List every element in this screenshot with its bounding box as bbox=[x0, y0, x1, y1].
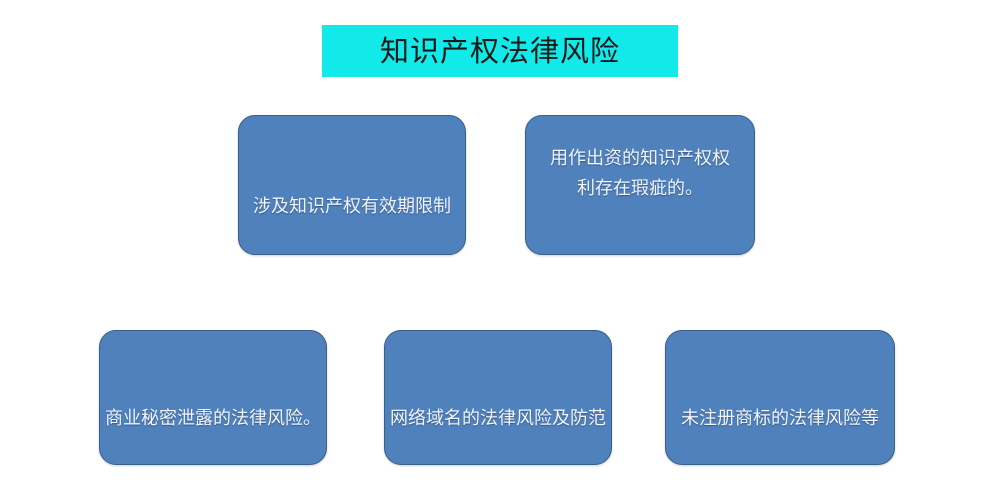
node-label-holder: 未注册商标的法律风险等 bbox=[666, 404, 894, 434]
node-label-1: 涉及知识产权有效期限制 bbox=[253, 192, 451, 222]
node-label-5: 未注册商标的法律风险等 bbox=[681, 404, 879, 434]
node-box-1[interactable]: 涉及知识产权有效期限制 bbox=[238, 115, 466, 255]
node-box-5[interactable]: 未注册商标的法律风险等 bbox=[665, 330, 895, 465]
node-box-2[interactable]: 用作出资的知识产权权利存在瑕疵的。 bbox=[525, 115, 755, 255]
slide-title-banner: 知识产权法律风险 bbox=[322, 25, 678, 77]
node-label-holder: 涉及知识产权有效期限制 bbox=[239, 192, 465, 222]
node-label-4: 网络域名的法律风险及防范 bbox=[390, 404, 606, 434]
node-label-holder: 网络域名的法律风险及防范 bbox=[385, 404, 611, 434]
slide-canvas: 知识产权法律风险 涉及知识产权有效期限制 用作出资的知识产权权利存在瑕疵的。 商… bbox=[0, 0, 1000, 500]
node-label-2: 用作出资的知识产权权利存在瑕疵的。 bbox=[545, 144, 735, 204]
node-label-holder: 商业秘密泄露的法律风险。 bbox=[100, 404, 326, 434]
node-box-4[interactable]: 网络域名的法律风险及防范 bbox=[384, 330, 612, 465]
node-label-3: 商业秘密泄露的法律风险。 bbox=[105, 404, 321, 434]
page-title: 知识产权法律风险 bbox=[380, 37, 620, 66]
node-box-3[interactable]: 商业秘密泄露的法律风险。 bbox=[99, 330, 327, 465]
node-label-holder: 用作出资的知识产权权利存在瑕疵的。 bbox=[526, 144, 754, 204]
